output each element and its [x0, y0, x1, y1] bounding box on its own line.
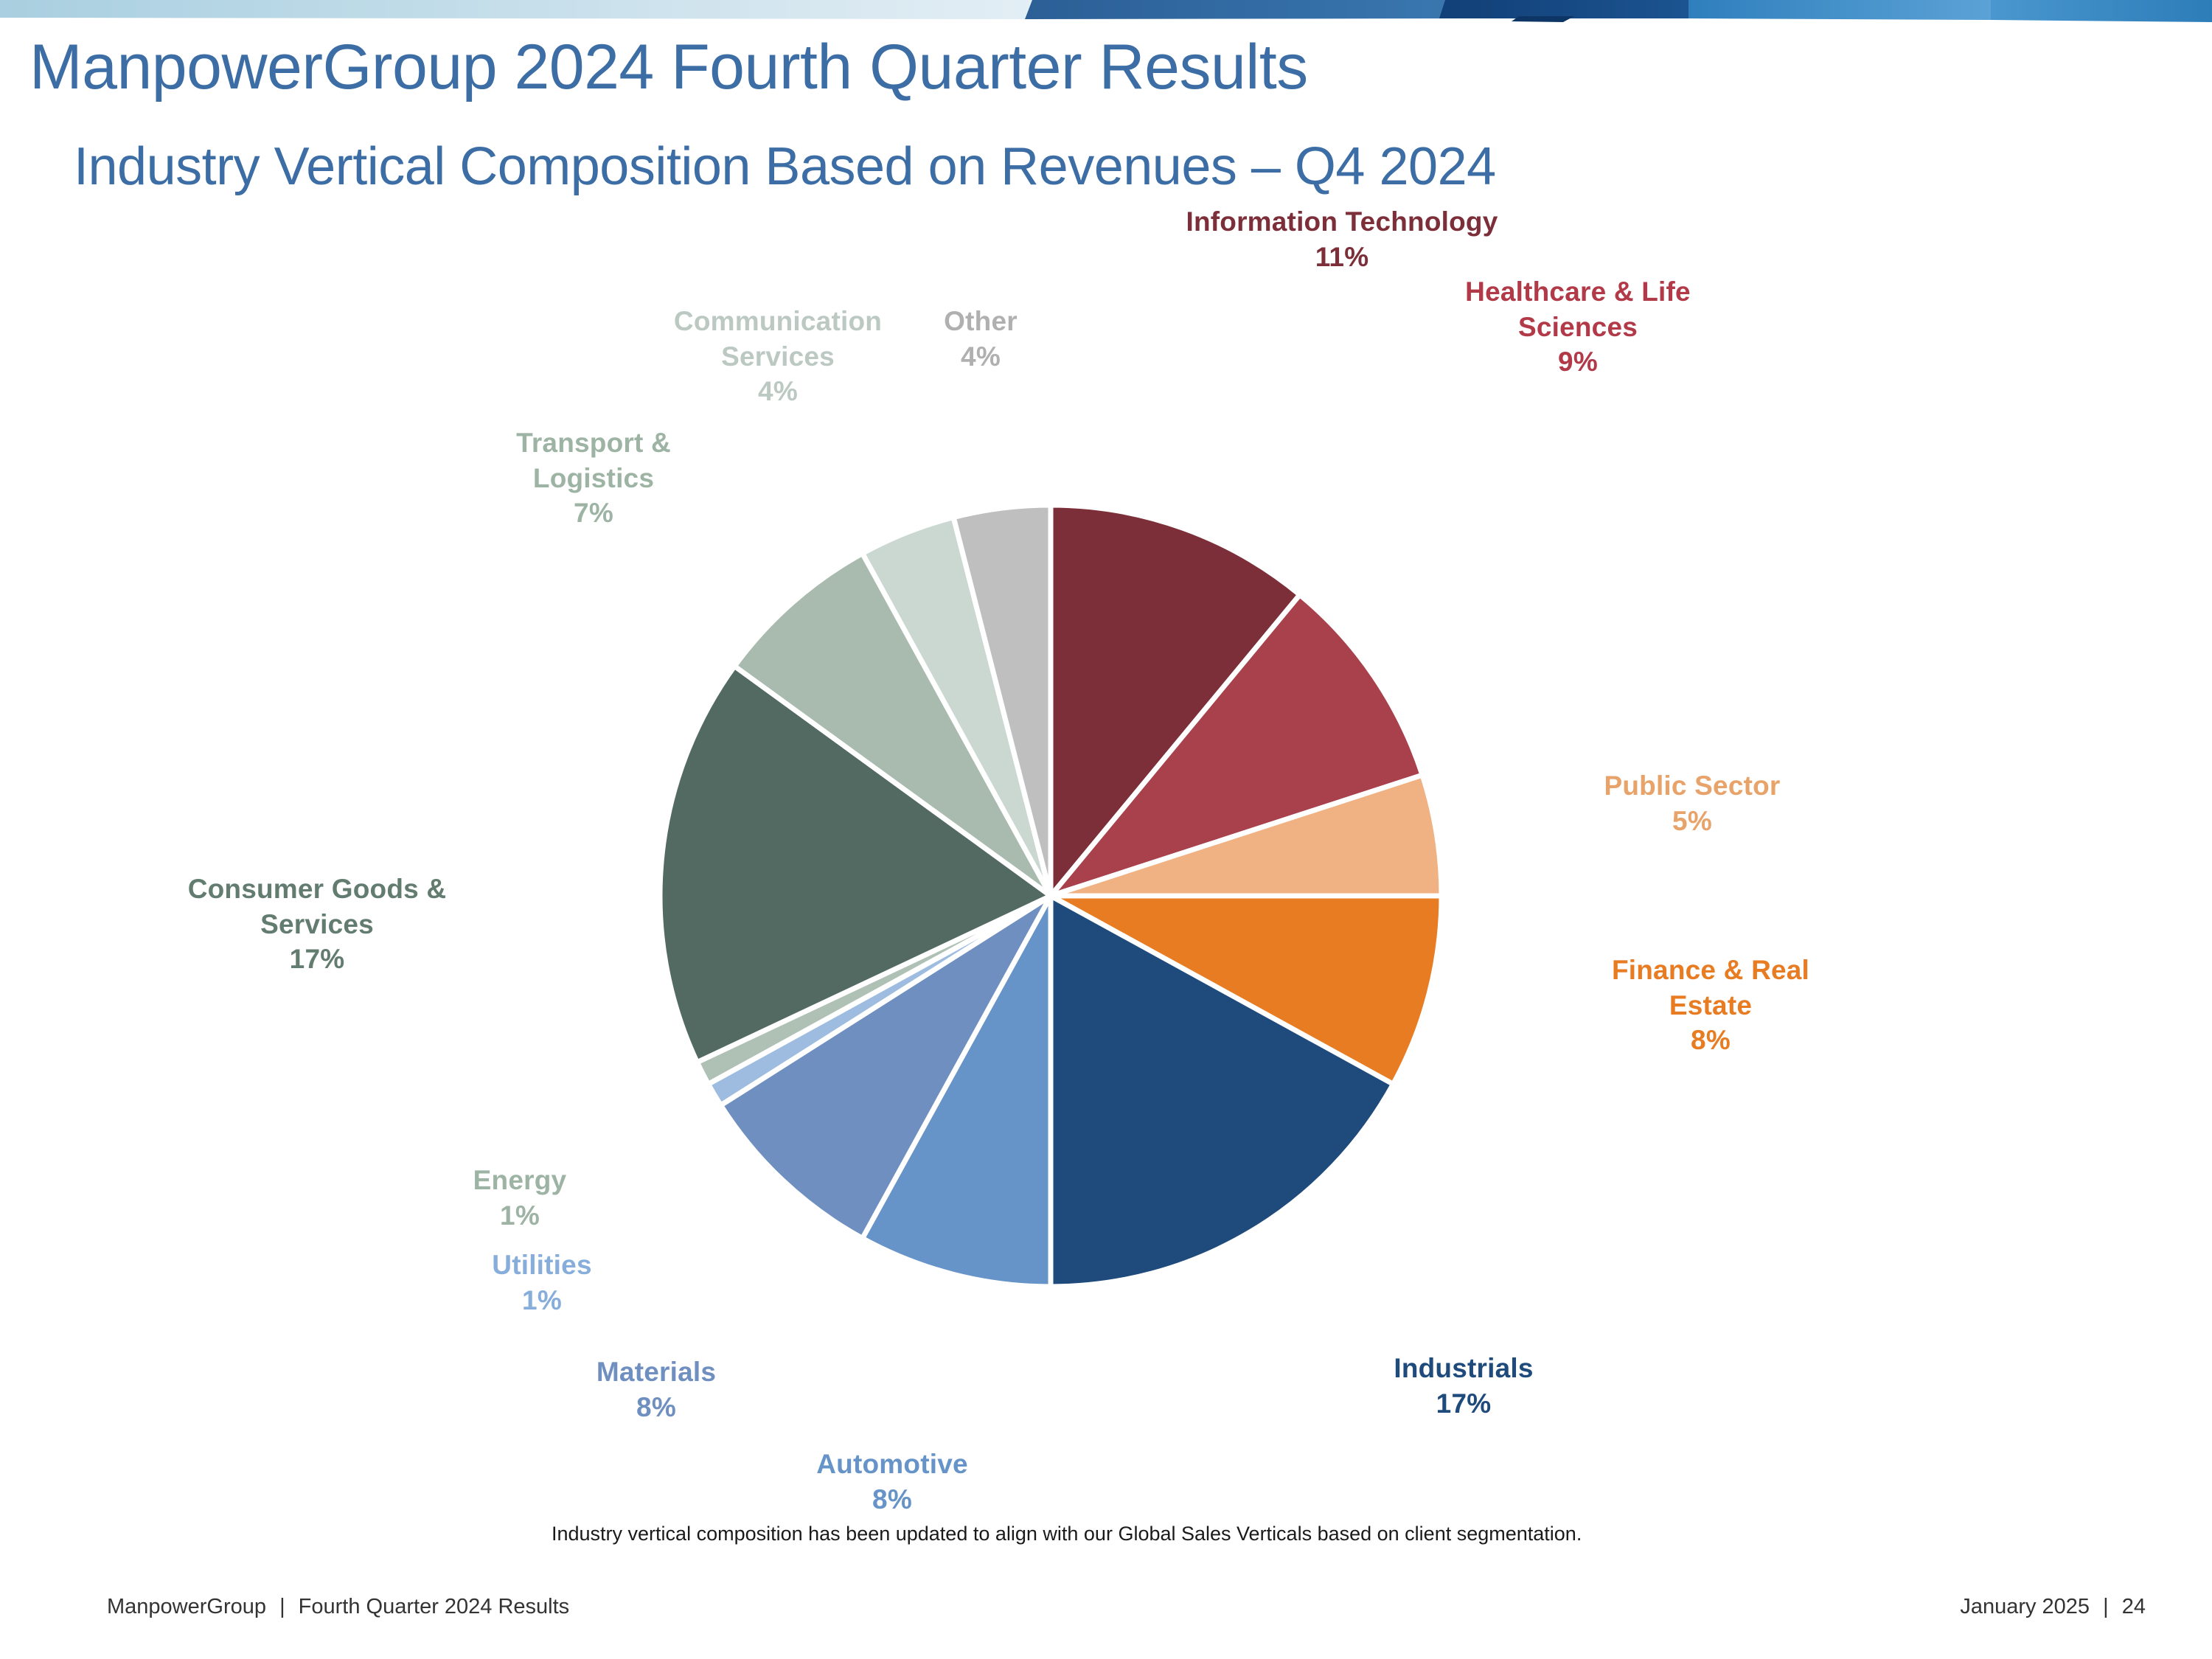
pie-label-value: 17%	[144, 942, 490, 976]
pie-label-text: Automotive	[816, 1449, 968, 1479]
pie-label-value: 4%	[896, 339, 1065, 374]
footer-right: January 2025 | 24	[1960, 1595, 2146, 1619]
pie-slices	[660, 505, 1441, 1287]
pie-label-industrials: Industrials 17%	[1324, 1316, 1604, 1455]
page-title: ManpowerGroup 2024 Fourth Quarter Result…	[29, 35, 1308, 99]
pie-label-text: Energy	[473, 1165, 567, 1195]
footer-page-number: 24	[2122, 1595, 2146, 1618]
pie-label-communication-services: Communication Services 4%	[634, 269, 922, 444]
pie-label-text: Finance & Real Estate	[1612, 955, 1809, 1020]
pie-label-value: 1%	[424, 1283, 660, 1318]
pie-label-text: Industrials	[1394, 1353, 1533, 1383]
footer-separator-1: |	[272, 1595, 293, 1618]
pie-label-public-sector: Public Sector 5%	[1545, 734, 1840, 873]
pie-label-value: 8%	[516, 1390, 796, 1425]
footer-date: January 2025	[1960, 1595, 2090, 1618]
pie-label-energy: Energy 1%	[413, 1128, 627, 1267]
footer-company: ManpowerGroup	[107, 1595, 266, 1618]
pie-label-text: Information Technology	[1186, 206, 1498, 237]
pie-label-value: 1%	[413, 1198, 627, 1233]
pie-label-value: 8%	[1563, 1023, 1858, 1057]
pie-label-healthcare-life-sciences: Healthcare & Life Sciences 9%	[1416, 240, 1740, 414]
pie-label-text: Communication Services	[674, 306, 882, 371]
footer-report: Fourth Quarter 2024 Results	[299, 1595, 570, 1618]
pie-label-text: Consumer Goods & Services	[188, 874, 447, 939]
decorative-banner	[0, 0, 2212, 24]
pie-label-value: 9%	[1416, 344, 1740, 379]
pie-label-other: Other 4%	[896, 269, 1065, 408]
pie-label-value: 17%	[1324, 1386, 1604, 1421]
footer-left: ManpowerGroup | Fourth Quarter 2024 Resu…	[107, 1595, 569, 1619]
pie-label-value: 4%	[634, 374, 922, 408]
pie-chart: Information Technology 11% Healthcare & …	[0, 243, 2212, 1512]
pie-label-value: 5%	[1545, 804, 1840, 838]
chart-footnote: Industry vertical composition has been u…	[552, 1523, 1582, 1545]
pie-label-text: Other	[944, 306, 1018, 336]
pie-label-text: Materials	[597, 1357, 716, 1387]
pie-label-value: 8%	[752, 1482, 1032, 1517]
footer-separator-2: |	[2096, 1595, 2116, 1618]
pie-label-text: Public Sector	[1604, 771, 1780, 801]
pie-label-consumer-goods-services: Consumer Goods & Services 17%	[144, 837, 490, 1012]
pie-label-finance-real-estate: Finance & Real Estate 8%	[1563, 918, 1858, 1093]
pie-label-value: 7%	[465, 495, 723, 530]
pie-label-text: Healthcare & Life Sciences	[1465, 276, 1691, 341]
